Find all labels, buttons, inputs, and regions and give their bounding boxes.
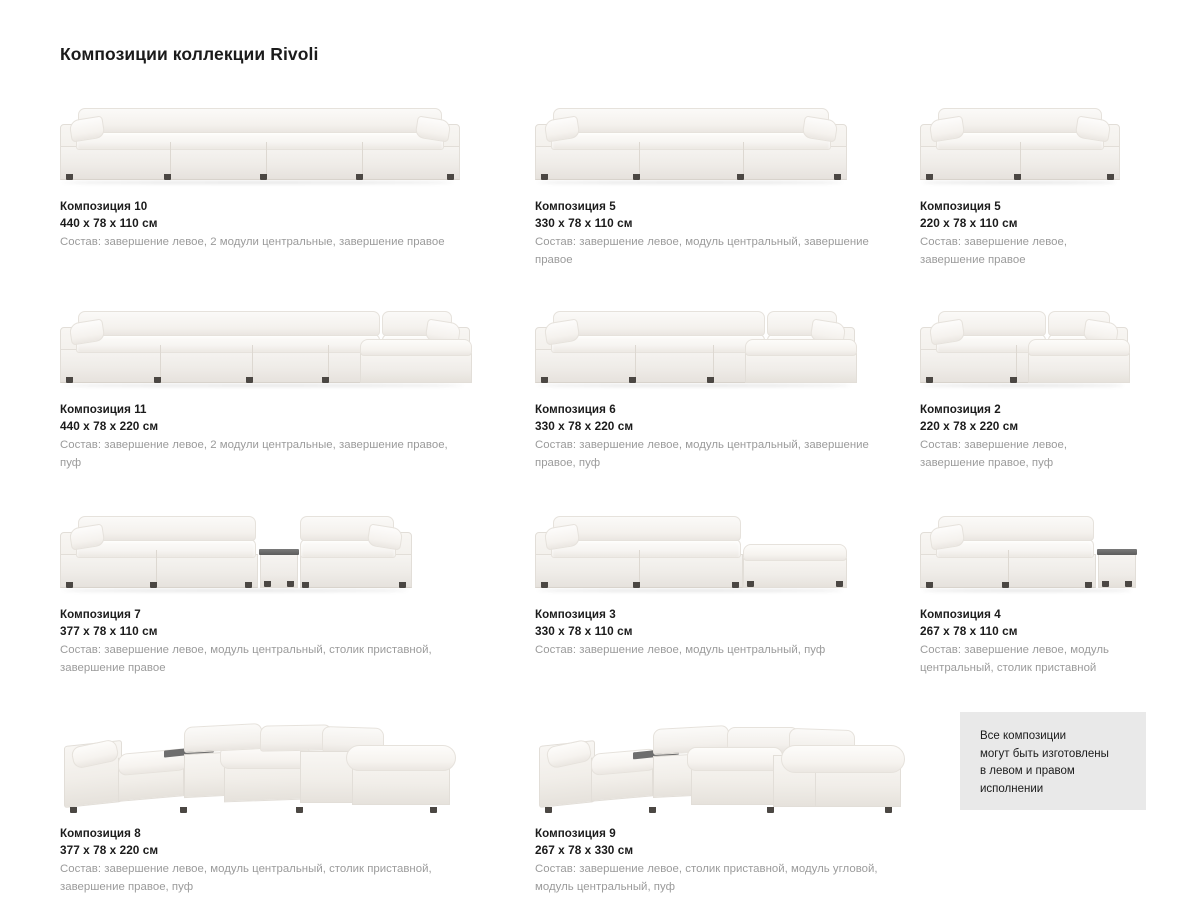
composition-description: Состав: завершение левое, завершение пра… bbox=[920, 234, 1126, 269]
composition-card-8[interactable]: Композиция 3 330 x 78 x 110 см Состав: з… bbox=[535, 472, 920, 677]
composition-name: Композиция 2 bbox=[920, 401, 1126, 418]
note-box: Все композиции могут быть изготовлены в … bbox=[960, 712, 1146, 810]
composition-caption-4: Композиция 11 440 x 78 x 220 см Состав: … bbox=[60, 401, 517, 472]
composition-caption-6: Композиция 2 220 x 78 x 220 см Состав: з… bbox=[920, 401, 1126, 472]
page-title: Композиции коллекции Rivoli bbox=[60, 44, 318, 65]
side-table bbox=[1098, 554, 1136, 588]
composition-name: Композиция 6 bbox=[535, 401, 902, 418]
composition-caption-5: Композиция 6 330 x 78 x 220 см Состав: з… bbox=[535, 401, 902, 472]
note-line-4: исполнении bbox=[980, 781, 1146, 799]
composition-dimensions: 220 x 78 x 220 см bbox=[920, 418, 1126, 435]
composition-image-10 bbox=[60, 703, 517, 813]
sofa-4-seat-straight bbox=[60, 88, 460, 186]
composition-image-1 bbox=[60, 88, 517, 186]
sofa-perspective-corner-with-ottoman bbox=[535, 703, 903, 813]
composition-card-11[interactable]: Композиция 9 267 x 78 x 330 см Состав: з… bbox=[535, 677, 920, 896]
composition-description: Состав: завершение левое, столик пристав… bbox=[535, 861, 887, 896]
composition-image-9 bbox=[920, 496, 1126, 594]
composition-card-4[interactable]: Композиция 11 440 x 78 x 220 см Состав: … bbox=[60, 269, 535, 472]
composition-card-1[interactable]: Композиция 10 440 x 78 x 110 см Состав: … bbox=[60, 88, 535, 269]
composition-dimensions: 377 x 78 x 220 см bbox=[60, 842, 517, 859]
composition-card-10[interactable]: Композиция 8 377 x 78 x 220 см Состав: з… bbox=[60, 677, 535, 896]
sofa-perspective-with-table-and-ottoman bbox=[60, 703, 440, 813]
composition-caption-7: Композиция 7 377 x 78 x 110 см Состав: з… bbox=[60, 606, 517, 677]
composition-caption-9: Композиция 4 267 x 78 x 110 см Состав: з… bbox=[920, 606, 1126, 677]
composition-caption-8: Композиция 3 330 x 78 x 110 см Состав: з… bbox=[535, 606, 902, 660]
side-table bbox=[260, 554, 298, 588]
composition-caption-1: Композиция 10 440 x 78 x 110 см Состав: … bbox=[60, 198, 517, 252]
sofa-2-seat-with-ottoman bbox=[920, 291, 1128, 389]
composition-caption-3: Композиция 5 220 x 78 x 110 см Состав: з… bbox=[920, 198, 1126, 269]
composition-card-2[interactable]: Композиция 5 330 x 78 x 110 см Состав: з… bbox=[535, 88, 920, 269]
ottoman bbox=[745, 353, 857, 383]
sofa-3-seat-with-ottoman bbox=[535, 291, 855, 389]
composition-image-4 bbox=[60, 291, 517, 389]
composition-dimensions: 267 x 78 x 110 см bbox=[920, 623, 1126, 640]
composition-image-11 bbox=[535, 703, 902, 813]
composition-description: Состав: завершение левое, завершение пра… bbox=[920, 437, 1126, 472]
composition-card-5[interactable]: Композиция 6 330 x 78 x 220 см Состав: з… bbox=[535, 269, 920, 472]
composition-description: Состав: завершение левое, модуль централ… bbox=[535, 642, 887, 660]
composition-description: Состав: завершение левое, модуль централ… bbox=[60, 642, 460, 677]
sofa-2-seat-with-side-table bbox=[920, 496, 1136, 594]
composition-caption-10: Композиция 8 377 x 78 x 220 см Состав: з… bbox=[60, 825, 517, 896]
note-line-3: в левом и правом bbox=[980, 763, 1146, 781]
note-line-1: Все композиции bbox=[980, 728, 1146, 746]
composition-dimensions: 330 x 78 x 110 см bbox=[535, 215, 902, 232]
composition-description: Состав: завершение левое, модуль централ… bbox=[535, 234, 887, 269]
ottoman bbox=[743, 558, 847, 588]
composition-dimensions: 220 x 78 x 110 см bbox=[920, 215, 1126, 232]
composition-image-6 bbox=[920, 291, 1126, 389]
composition-name: Композиция 7 bbox=[60, 606, 517, 623]
composition-card-7[interactable]: Композиция 7 377 x 78 x 110 см Состав: з… bbox=[60, 472, 535, 677]
composition-image-7 bbox=[60, 496, 517, 594]
composition-dimensions: 330 x 78 x 220 см bbox=[535, 418, 902, 435]
composition-name: Композиция 3 bbox=[535, 606, 902, 623]
composition-dimensions: 377 x 78 x 110 см bbox=[60, 623, 517, 640]
composition-name: Композиция 5 bbox=[535, 198, 902, 215]
sofa-2-seat-straight bbox=[920, 88, 1120, 186]
composition-image-3 bbox=[920, 88, 1126, 186]
composition-name: Композиция 5 bbox=[920, 198, 1126, 215]
composition-caption-2: Композиция 5 330 x 78 x 110 см Состав: з… bbox=[535, 198, 902, 269]
composition-description: Состав: завершение левое, 2 модули центр… bbox=[60, 437, 460, 472]
composition-dimensions: 330 x 78 x 110 см bbox=[535, 623, 902, 640]
sofa-4-seat-with-ottoman bbox=[60, 291, 470, 389]
composition-name: Композиция 10 bbox=[60, 198, 517, 215]
composition-card-3[interactable]: Композиция 5 220 x 78 x 110 см Состав: з… bbox=[920, 88, 1144, 269]
ottoman bbox=[360, 353, 472, 383]
composition-image-5 bbox=[535, 291, 902, 389]
composition-description: Состав: завершение левое, модуль централ… bbox=[535, 437, 887, 472]
catalog-page: Композиции коллекции Rivoli bbox=[0, 0, 1200, 900]
composition-dimensions: 440 x 78 x 110 см bbox=[60, 215, 517, 232]
ottoman bbox=[1028, 353, 1130, 383]
composition-name: Композиция 4 bbox=[920, 606, 1126, 623]
composition-dimensions: 267 x 78 x 330 см bbox=[535, 842, 902, 859]
composition-image-2 bbox=[535, 88, 902, 186]
composition-name: Композиция 11 bbox=[60, 401, 517, 418]
composition-dimensions: 440 x 78 x 220 см bbox=[60, 418, 517, 435]
note-line-2: могут быть изготовлены bbox=[980, 746, 1146, 764]
composition-image-8 bbox=[535, 496, 902, 594]
sofa-2-seat-with-ottoman-right bbox=[535, 496, 847, 594]
composition-description: Состав: завершение левое, модуль централ… bbox=[60, 861, 460, 896]
composition-description: Состав: завершение левое, 2 модули центр… bbox=[60, 234, 460, 252]
sofa-3-seat-straight bbox=[535, 88, 847, 186]
composition-name: Композиция 8 bbox=[60, 825, 517, 842]
composition-description: Состав: завершение левое, модуль централ… bbox=[920, 642, 1126, 677]
composition-card-9[interactable]: Композиция 4 267 x 78 x 110 см Состав: з… bbox=[920, 472, 1144, 677]
composition-name: Композиция 9 bbox=[535, 825, 902, 842]
composition-card-6[interactable]: Композиция 2 220 x 78 x 220 см Состав: з… bbox=[920, 269, 1144, 472]
composition-caption-11: Композиция 9 267 x 78 x 330 см Состав: з… bbox=[535, 825, 902, 896]
sofa-3-seat-with-side-table-middle bbox=[60, 496, 412, 594]
